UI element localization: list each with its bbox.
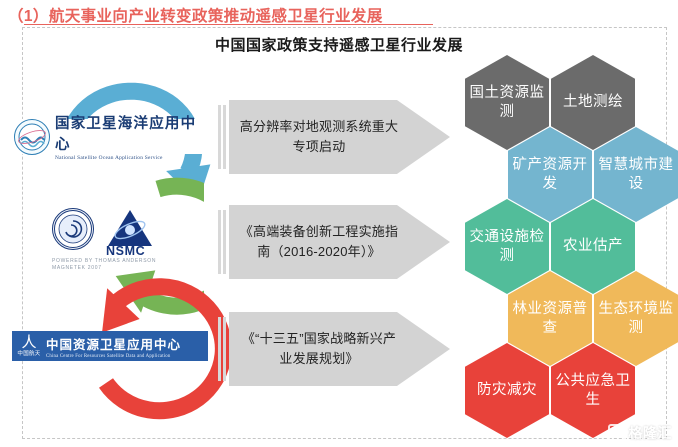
chevron-bars xyxy=(218,105,227,169)
headline-text: 航天事业向产业转变政策推动遥感卫星行业发展 xyxy=(49,8,383,25)
nsmc-acronym: NSMC xyxy=(106,244,145,258)
page-headline: （1）航天事业向产业转变政策推动遥感卫星行业发展 xyxy=(8,4,383,26)
nsmc-seal-icon xyxy=(52,208,94,250)
policy-chevron-2: 《高端装备创新工程实施指南（2016-2020年）》 xyxy=(218,205,450,279)
logo3-name-cn: 中国资源卫星应用中心 xyxy=(46,334,181,353)
hex-label: 矿产资源开发 xyxy=(508,156,592,194)
hex-label: 农业估产 xyxy=(559,237,627,256)
chevron-body: 《高端装备创新工程实施指南（2016-2020年）》 xyxy=(229,205,450,279)
nsmc-fine-print-line1: POWERED BY THOMAS ANDERSON xyxy=(52,258,156,265)
hex-label: 国土资源监测 xyxy=(465,84,549,122)
policy-chevron-1: 高分辨率对地观测系统重大专项启动 xyxy=(218,100,450,174)
hex-label: 生态环境监测 xyxy=(594,300,678,338)
logo-nsmc: NSMC POWERED BY THOMAS ANDERSON MAGNETEK… xyxy=(52,208,202,266)
chevron-body: 高分辨率对地观测系统重大专项启动 xyxy=(229,100,450,174)
chevron-body: 《“十三五”国家战略新兴产业发展规划》 xyxy=(229,312,450,386)
policy-label: 《“十三五”国家战略新兴产业发展规划》 xyxy=(239,329,399,369)
watermark-text: 格隆汇 xyxy=(629,423,673,443)
watermark: 格隆汇 xyxy=(608,423,673,443)
chevron-bars xyxy=(218,317,227,381)
nsmc-fine-print: POWERED BY THOMAS ANDERSON MAGNETEK 2007 xyxy=(52,258,156,272)
logo1-name-cn: 国家卫星海洋应用中心 xyxy=(55,112,206,154)
nsmc-fine-print-line2: MAGNETEK 2007 xyxy=(52,265,156,272)
hex-label: 智慧城市建设 xyxy=(594,156,678,194)
hex-label: 土地测绘 xyxy=(559,93,627,112)
watermark-logo-icon xyxy=(608,424,626,442)
logo3-name-en: China Centre For Resources Satellite Dat… xyxy=(46,354,181,359)
hex-label: 防灾减灾 xyxy=(473,381,541,400)
nsmc-triangle-icon xyxy=(107,208,153,248)
hex-label: 公共应急卫生 xyxy=(551,372,635,410)
hex-label: 交通设施检测 xyxy=(465,228,549,266)
chart-title: 中国国家政策支持遥感卫星行业发展 xyxy=(0,34,678,55)
casc-emblem-icon: 人 中国航天 xyxy=(16,333,42,359)
casc-badge-text: 中国航天 xyxy=(17,349,40,357)
policy-label: 高分辨率对地观测系统重大专项启动 xyxy=(239,117,399,157)
policy-chevron-3: 《“十三五”国家战略新兴产业发展规划》 xyxy=(218,312,450,386)
headline-underline xyxy=(24,24,433,25)
policy-label: 《高端装备创新工程实施指南（2016-2020年）》 xyxy=(239,222,399,262)
logo-national-satellite-ocean: 国家卫星海洋应用中心 National Satellite Ocean Appl… xyxy=(14,119,206,154)
ocean-wave-icon xyxy=(14,119,50,155)
hex-label: 林业资源普查 xyxy=(508,300,592,338)
headline-number: （1） xyxy=(8,8,49,25)
logo-china-resources-satellite: 人 中国航天 中国资源卫星应用中心 China Centre For Resou… xyxy=(12,331,208,361)
logo1-name-en: National Satellite Ocean Application Ser… xyxy=(55,155,206,161)
casc-glyph: 人 xyxy=(21,336,36,349)
chevron-bars xyxy=(218,210,227,274)
